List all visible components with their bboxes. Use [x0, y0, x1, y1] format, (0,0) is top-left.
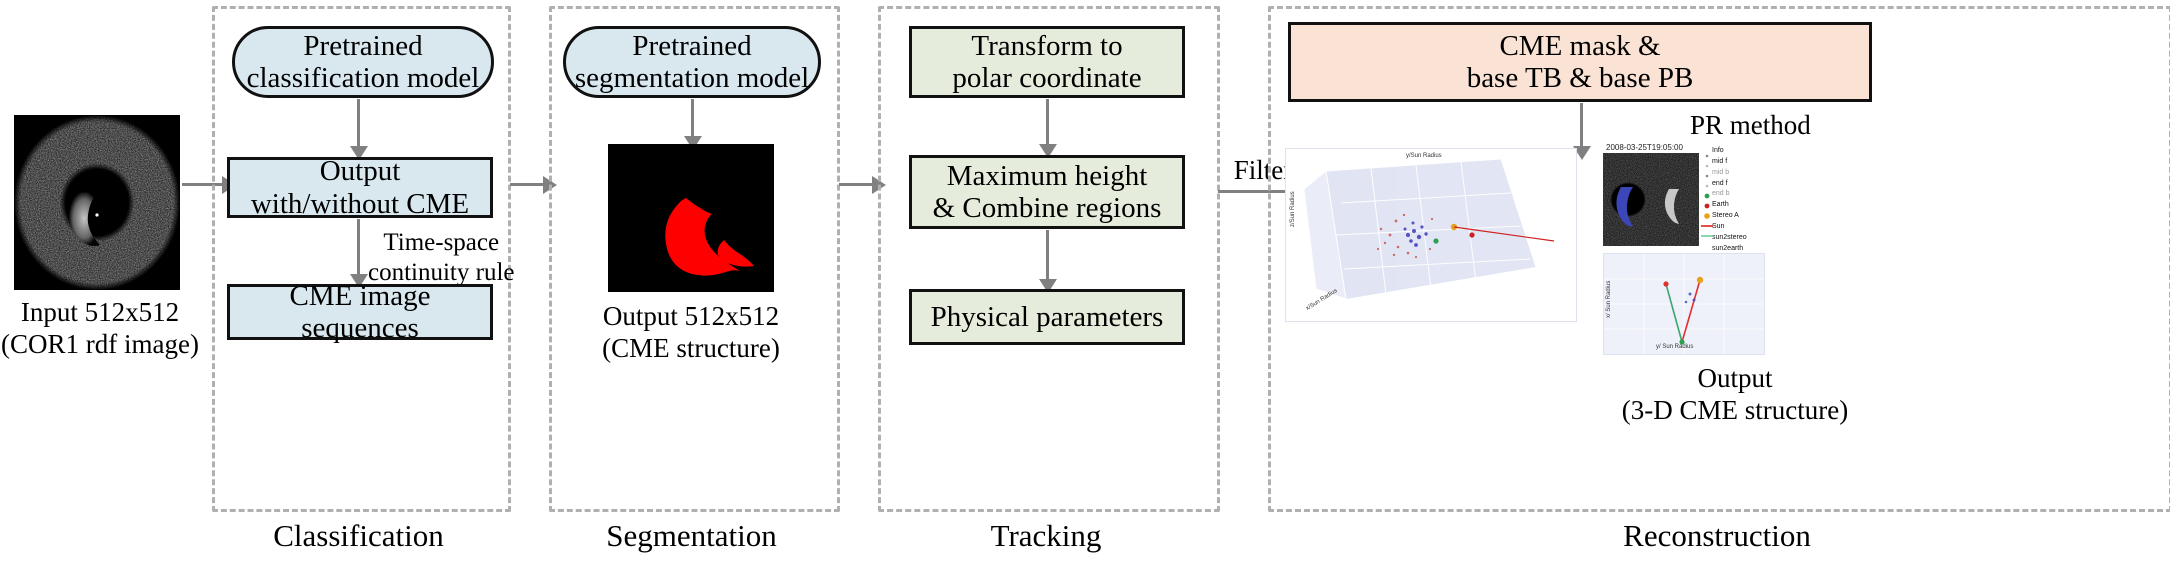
stage-label-classification: Classification [212, 518, 505, 554]
stage-label-segmentation: Segmentation [549, 518, 834, 554]
pr-method-label: PR method [1690, 110, 1811, 141]
cme-mask-shape [608, 144, 774, 292]
segmentation-output-image [608, 144, 774, 292]
node-pretrained-classification-model-text: Pretrainedclassification model [247, 30, 480, 95]
node-pretrained-segmentation-model-text: Pretrainedsegmentation model [575, 30, 809, 95]
pr-image-timestamp: 2008-03-25T19:05:00 [1606, 143, 1683, 152]
arrow-classify-1-2 [357, 99, 360, 147]
pr-legend-item-6: Sun [1712, 222, 1747, 233]
recon-3d-scatter-plot: z/Sun Radius x/Sun Radius y/Sun Radius [1285, 148, 1577, 322]
input-caption-line1: Input 512x512 [0, 296, 200, 328]
edge-label-time-space-continuity: Time-space continuity rule [368, 228, 515, 287]
arrow-reconstruction-input-down [1580, 103, 1583, 147]
pr-method-coronagraph-image [1603, 153, 1699, 246]
pr-legend-item-3: end b [1712, 189, 1747, 200]
node-output-with-without-cme[interactable]: Outputwith/without CME [227, 157, 493, 218]
node-pretrained-classification-model[interactable]: Pretrainedclassification model [232, 26, 494, 98]
node-cme-mask-base-tb-base-pb-text: CME mask &base TB & base PB [1467, 30, 1694, 95]
node-pretrained-segmentation-model[interactable]: Pretrainedsegmentation model [563, 26, 821, 98]
node-maximum-height-combine-regions-text: Maximum height& Combine regions [933, 160, 1162, 225]
plot2d-axis-y-label: x/ Sun Radius [1606, 281, 1612, 318]
pr-legend-item-7: sun2stereo [1712, 233, 1747, 244]
node-output-with-without-cme-text: Outputwith/without CME [251, 155, 469, 220]
arrow-classify-2-3 [357, 219, 360, 275]
pr-legend-item-0: mid f [1712, 157, 1747, 168]
arrow-tracking-2-3 [1046, 230, 1049, 280]
cor1-noise-field [14, 115, 180, 290]
arrow-classification-to-segmentation [510, 183, 543, 186]
reconstruction-output-caption-line2: (3-D CME structure) [1570, 394, 1900, 426]
stage-label-reconstruction: Reconstruction [1268, 518, 2166, 554]
pr-coronagraph-svg [1603, 153, 1699, 246]
node-transform-to-polar-coordinate[interactable]: Transform topolar coordinate [909, 26, 1185, 98]
node-maximum-height-combine-regions[interactable]: Maximum height& Combine regions [909, 155, 1185, 229]
input-caption-line2: (COR1 rdf image) [0, 328, 200, 360]
arrow-segmentation-to-tracking [839, 183, 872, 186]
segmentation-output-caption-line2: (CME structure) [578, 332, 804, 364]
input-caption: Input 512x512 (COR1 rdf image) [0, 296, 200, 361]
reconstruction-output-caption-line1: Output [1570, 362, 1900, 394]
node-physical-parameters[interactable]: Physical parameters [909, 289, 1185, 345]
pr-legend-markers [1700, 150, 1714, 242]
node-cme-image-sequences[interactable]: CME image sequences [227, 284, 493, 340]
pr-legend-item-4: Earth [1712, 200, 1747, 211]
input-cor1-image [14, 115, 180, 290]
arrow-segmentation-model-to-output [691, 99, 694, 137]
recon-2d-geometry-plot: x/ Sun Radius y/ Sun Radius [1603, 253, 1765, 355]
plot3d-axis-y-label: y/Sun Radius [1406, 153, 1442, 159]
arrow-tracking-1-2 [1046, 99, 1049, 145]
pr-legend-item-1: mid b [1712, 168, 1747, 179]
segmentation-output-caption: Output 512x512 (CME structure) [578, 300, 804, 365]
plot3d-axis-z-label: z/Sun Radius [1290, 191, 1296, 227]
recon-2d-plot-svg [1604, 254, 1764, 354]
node-physical-parameters-text: Physical parameters [931, 301, 1164, 333]
pr-legend-title: Info [1712, 146, 1747, 157]
stage-label-tracking: Tracking [878, 518, 1214, 554]
reconstruction-output-caption: Output (3-D CME structure) [1570, 362, 1900, 427]
node-cme-image-sequences-text: CME image sequences [230, 280, 490, 345]
pr-legend-item-5: Stereo A [1712, 211, 1747, 222]
edge-label-line1: Time-space [368, 228, 515, 258]
node-cme-mask-base-tb-base-pb[interactable]: CME mask &base TB & base PB [1288, 22, 1872, 102]
pr-legend-item-2: end f [1712, 179, 1747, 190]
node-transform-to-polar-coordinate-text: Transform topolar coordinate [952, 30, 1141, 95]
segmentation-output-caption-line1: Output 512x512 [578, 300, 804, 332]
pr-legend: Info mid f mid b end f end b Earth Stere… [1712, 146, 1747, 254]
plot2d-axis-x-label: y/ Sun Radius [1656, 344, 1693, 350]
